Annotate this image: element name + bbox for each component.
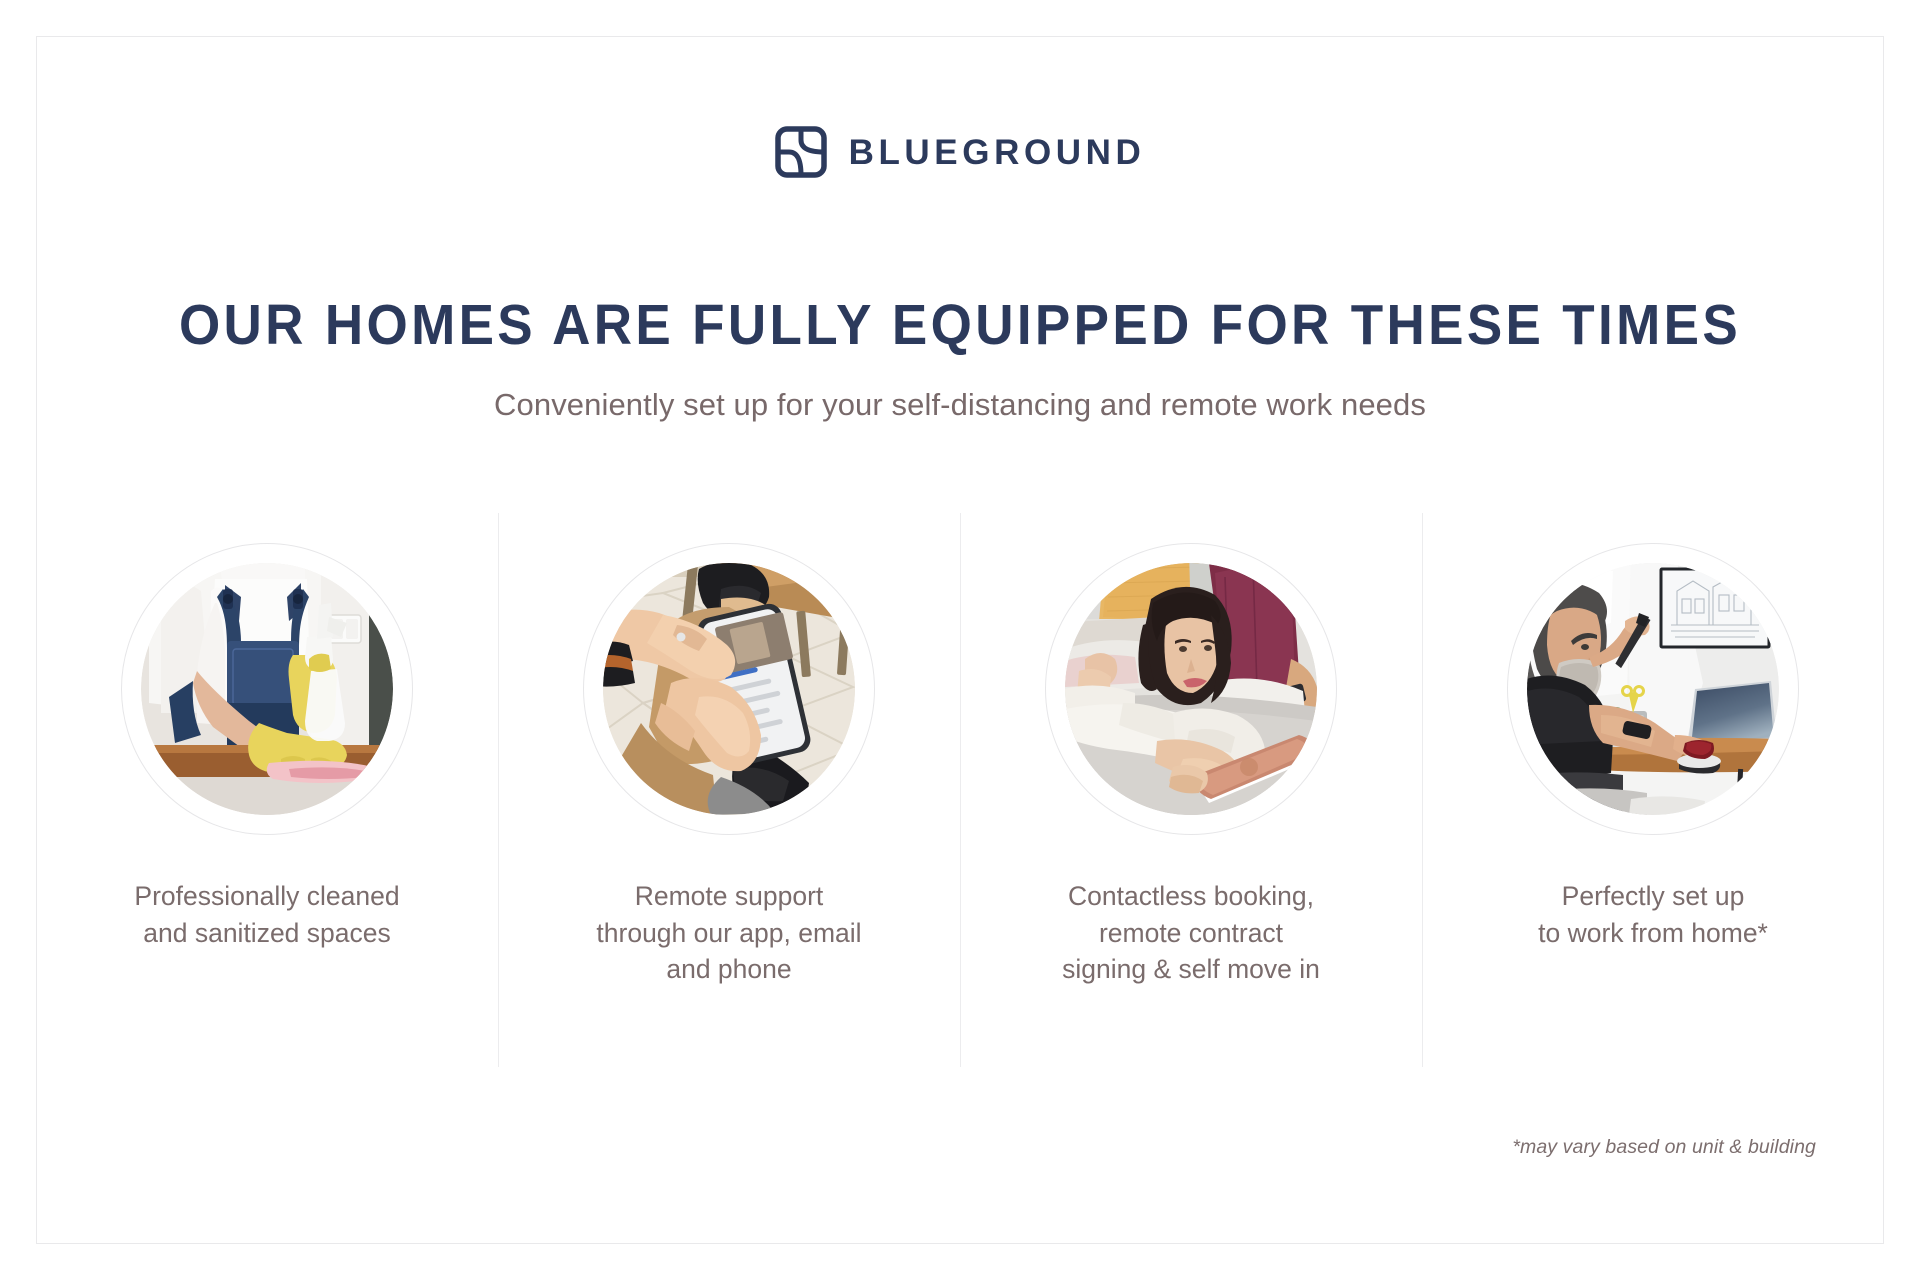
photo-ring — [583, 543, 875, 835]
caption-line-3: signing & self move in — [1031, 951, 1351, 988]
caption-line-1: Contactless booking, — [1031, 878, 1351, 915]
caption-line-3: and phone — [569, 951, 889, 988]
photo-ring — [1045, 543, 1337, 835]
infographic-page: BLUEGROUND OUR HOMES ARE FULLY EQUIPPED … — [0, 0, 1920, 1280]
caption-line-2: through our app, email — [569, 915, 889, 952]
caption-line-1: Professionally cleaned — [107, 878, 427, 915]
brand-wordmark: BLUEGROUND — [849, 135, 1146, 170]
feature-card-cleaning: Professionally cleaned and sanitized spa… — [36, 513, 498, 1067]
feature-card-work-from-home: Perfectly set up to work from home* — [1422, 513, 1884, 1067]
photo-ring — [1507, 543, 1799, 835]
page-title: OUR HOMES ARE FULLY EQUIPPED FOR THESE T… — [67, 296, 1853, 356]
feature-card-remote-support: Remote support through our app, email an… — [498, 513, 960, 1067]
caption-line-2: and sanitized spaces — [107, 915, 427, 952]
caption-line-1: Perfectly set up — [1493, 878, 1813, 915]
caption-line-2: to work from home* — [1493, 915, 1813, 952]
feature-cards-row: Professionally cleaned and sanitized spa… — [36, 513, 1884, 1067]
brand-lockup: BLUEGROUND — [0, 126, 1920, 178]
feature-card-contactless-booking: Contactless booking, remote contract sig… — [960, 513, 1422, 1067]
photo-remote-support — [603, 563, 855, 815]
photo-ring — [121, 543, 413, 835]
photo-work-from-home — [1527, 563, 1779, 815]
page-subtitle: Conveniently set up for your self-distan… — [0, 386, 1920, 423]
blueground-logo-icon — [775, 126, 827, 178]
caption-line-1: Remote support — [569, 878, 889, 915]
feature-caption: Contactless booking, remote contract sig… — [1031, 878, 1351, 988]
feature-caption: Professionally cleaned and sanitized spa… — [107, 878, 427, 951]
caption-line-2: remote contract — [1031, 915, 1351, 952]
photo-cleaning — [141, 563, 393, 815]
feature-caption: Perfectly set up to work from home* — [1493, 878, 1813, 951]
feature-caption: Remote support through our app, email an… — [569, 878, 889, 988]
photo-contactless-booking — [1065, 563, 1317, 815]
footnote-disclaimer: *may vary based on unit & building — [1512, 1136, 1816, 1159]
